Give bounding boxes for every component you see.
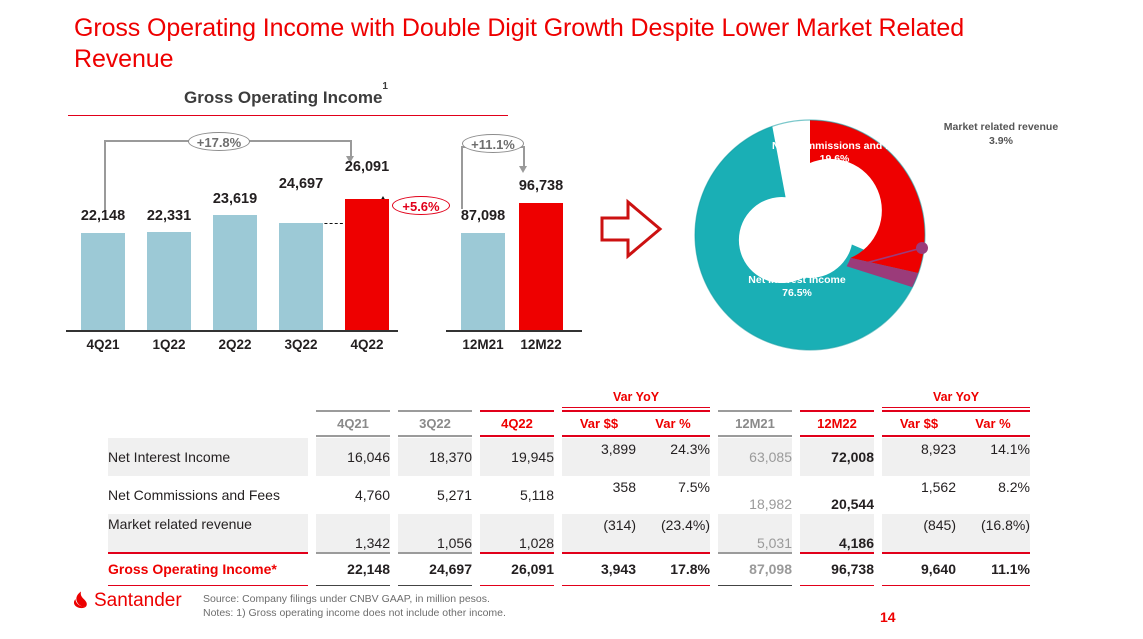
row-label-market-related-revenue: Market related revenue: [108, 514, 308, 552]
group-header-var-yoy-annual: Var YoY: [882, 388, 1030, 406]
total-botrule-varss-q: [562, 585, 636, 587]
total-botrule-varss-a: [882, 585, 956, 587]
donut-chart-panel: Net Commissions and Fees 19.6% Net Inter…: [690, 112, 1140, 358]
footer-note-1: Notes: 1) Gross operating income does no…: [203, 606, 506, 620]
cell-mrr-varss-q: (314): [562, 514, 636, 552]
bar-4Q21: [81, 233, 125, 330]
donut-callout-label: Market related revenue: [944, 121, 1058, 133]
table-total-row: Gross Operating Income* 22,148 24,697 26…: [108, 554, 1030, 585]
cell-mrr-4q22: 1,028: [480, 514, 554, 552]
total-botrule-varpct-q: [636, 585, 710, 587]
total-4q22: 26,091: [480, 554, 554, 585]
cell-nii-4q22: 19,945: [480, 438, 554, 476]
total-12m21: 87,098: [718, 554, 792, 585]
santander-logo: Santander: [72, 586, 204, 612]
row-label-net-interest-income: Net Interest Income: [108, 438, 308, 476]
total-botrule-4q21: [316, 585, 390, 587]
row-label-net-commissions-and-fees: Net Commissions and Fees: [108, 476, 308, 514]
footer-notes: Source: Company filings under CNBV GAAP,…: [203, 592, 506, 620]
cell-mrr-varpct-a: (16.8%): [956, 514, 1030, 552]
cell-ncf-3q22: 5,271: [398, 476, 472, 514]
axis-label-3Q22: 3Q22: [266, 337, 336, 352]
bar-chart-panel: Gross Operating Income1 +17.8% +11.1% +5…: [66, 88, 610, 354]
x-axis-quarterly: [66, 330, 398, 332]
growth-connector-17-8-vertical-right: [350, 140, 352, 157]
table-row: Net Interest Income 16,046 18,370 19,945…: [108, 438, 1030, 476]
axis-label-1Q22: 1Q22: [134, 337, 204, 352]
total-botrule-12m22: [800, 585, 874, 587]
cell-nii-4q21: 16,046: [316, 438, 390, 476]
col-header-var-pct-quarterly: Var %: [636, 413, 710, 434]
total-varpct-a: 11.1%: [956, 554, 1030, 585]
footer-source: Source: Company filings under CNBV GAAP,…: [203, 592, 506, 606]
axis-label-4Q22: 4Q22: [332, 337, 402, 352]
col-header-12m22: 12M22: [800, 413, 874, 434]
cell-ncf-12m22: 20,544: [800, 476, 874, 514]
bar-value-4Q22: 26,091: [322, 159, 412, 175]
total-botrule-varpct-a: [956, 585, 1030, 587]
cell-mrr-varss-a: (845): [882, 514, 956, 552]
bar-title-divider: [68, 115, 508, 116]
donut-label-net-commissions-and-fees: Net Commissions and Fees 19.6%: [772, 140, 897, 166]
table-group-header-row: Var YoY Var YoY: [108, 388, 1030, 406]
cell-mrr-12m22: 4,186: [800, 514, 874, 552]
cell-nii-varpct-q: 24.3%: [636, 438, 710, 476]
bar-4Q22: [345, 199, 389, 330]
table-row: Net Commissions and Fees 4,760 5,271 5,1…: [108, 476, 1030, 514]
cell-ncf-12m21: 18,982: [718, 476, 792, 514]
bar-12M22: [519, 203, 563, 330]
axis-label-2Q22: 2Q22: [200, 337, 270, 352]
donut-callout-market-related-revenue: Market related revenue 3.9%: [941, 120, 1061, 148]
bar-value-12M21: 87,098: [438, 208, 528, 224]
cell-ncf-varpct-a: 8.2%: [956, 476, 1030, 514]
total-4q21: 22,148: [316, 554, 390, 585]
col-header-var-ss-quarterly: Var $$: [562, 413, 636, 434]
cell-ncf-4q22: 5,118: [480, 476, 554, 514]
bar-value-2Q22: 23,619: [190, 191, 280, 207]
table-header-row: 4Q21 3Q22 4Q22 Var $$ Var % 12M21 12M22 …: [108, 413, 1030, 434]
donut-value-commissions: 19.6%: [820, 153, 850, 165]
cell-ncf-varss-a: 1,562: [882, 476, 956, 514]
donut-label-net-interest-income: Net Interest Income 76.5%: [738, 274, 856, 300]
growth-badge-17-8: +17.8%: [188, 132, 250, 151]
callout-dot: [916, 242, 928, 254]
bar-value-1Q22: 22,331: [124, 208, 214, 224]
financial-table: Var YoY Var YoY 4Q21 3Q22 4Q22 Var $$ Va…: [108, 388, 1030, 586]
donut-label-text-interest: Net Interest Income: [748, 274, 845, 286]
x-axis-annual: [446, 330, 582, 332]
growth-badge-11-1: +11.1%: [462, 134, 524, 153]
bar-2Q22: [213, 215, 257, 330]
growth-arrow-11-1: [519, 166, 527, 173]
total-botrule-4q22: [480, 585, 554, 587]
axis-label-12M22: 12M22: [506, 337, 576, 352]
santander-flame-icon: [74, 592, 87, 609]
growth-connector-11-1-vertical-right: [523, 146, 525, 167]
santander-wordmark: Santander: [94, 590, 182, 611]
total-row-label: Gross Operating Income*: [108, 554, 308, 585]
donut-label-text-commissions: Net Commissions and Fees: [772, 140, 909, 152]
bar-chart-title: Gross Operating Income1: [66, 88, 506, 108]
page-title: Gross Operating Income with Double Digit…: [74, 13, 1014, 75]
col-header-3q22: 3Q22: [398, 413, 472, 434]
cell-nii-varpct-a: 14.1%: [956, 438, 1030, 476]
cell-ncf-varss-q: 358: [562, 476, 636, 514]
transition-arrow-icon: [598, 196, 664, 262]
cell-mrr-12m21: 5,031: [718, 514, 792, 552]
cell-ncf-varpct-q: 7.5%: [636, 476, 710, 514]
cell-nii-varss-q: 3,899: [562, 438, 636, 476]
total-varpct-q: 17.8%: [636, 554, 710, 585]
bar-plot-area: +17.8% +11.1% +5.6% 22,148 22,331 23,619…: [66, 132, 610, 330]
cell-nii-3q22: 18,370: [398, 438, 472, 476]
cell-ncf-4q21: 4,760: [316, 476, 390, 514]
cell-nii-12m21: 63,085: [718, 438, 792, 476]
col-header-12m21: 12M21: [718, 413, 792, 434]
cell-mrr-4q21: 1,342: [316, 514, 390, 552]
bar-chart-title-superscript: 1: [382, 81, 388, 92]
cell-mrr-varpct-q: (23.4%): [636, 514, 710, 552]
table-total-botrule-row: [108, 585, 1030, 587]
total-12m22: 96,738: [800, 554, 874, 585]
table-row: Market related revenue 1,342 1,056 1,028…: [108, 514, 1030, 552]
total-varss-a: 9,640: [882, 554, 956, 585]
growth-connector-17-8-vertical-left: [104, 140, 106, 212]
axis-label-4Q21: 4Q21: [68, 337, 138, 352]
cell-nii-varss-a: 8,923: [882, 438, 956, 476]
col-header-4q22: 4Q22: [480, 413, 554, 434]
total-3q22: 24,697: [398, 554, 472, 585]
bar-chart-title-text: Gross Operating Income: [184, 88, 382, 107]
bar-1Q22: [147, 232, 191, 330]
total-varss-q: 3,943: [562, 554, 636, 585]
financial-table-wrapper: Var YoY Var YoY 4Q21 3Q22 4Q22 Var $$ Va…: [108, 388, 1020, 574]
donut-callout-value: 3.9%: [989, 135, 1013, 147]
bar-value-12M22: 96,738: [496, 178, 586, 194]
col-header-4q21: 4Q21: [316, 413, 390, 434]
bar-value-3Q22: 24,697: [256, 176, 346, 192]
donut-value-interest: 76.5%: [782, 287, 812, 299]
cell-nii-12m22: 72,008: [800, 438, 874, 476]
cell-mrr-3q22: 1,056: [398, 514, 472, 552]
bar-12M21: [461, 233, 505, 330]
total-botrule-12m21: [718, 585, 792, 587]
col-header-var-ss-annual: Var $$: [882, 413, 956, 434]
page-number: 14: [880, 609, 896, 625]
total-botrule-3q22: [398, 585, 472, 587]
growth-connector-11-1-vertical-left: [461, 146, 463, 209]
col-header-var-pct-annual: Var %: [956, 413, 1030, 434]
bar-3Q22: [279, 223, 323, 330]
group-header-var-yoy-quarterly: Var YoY: [562, 388, 710, 406]
